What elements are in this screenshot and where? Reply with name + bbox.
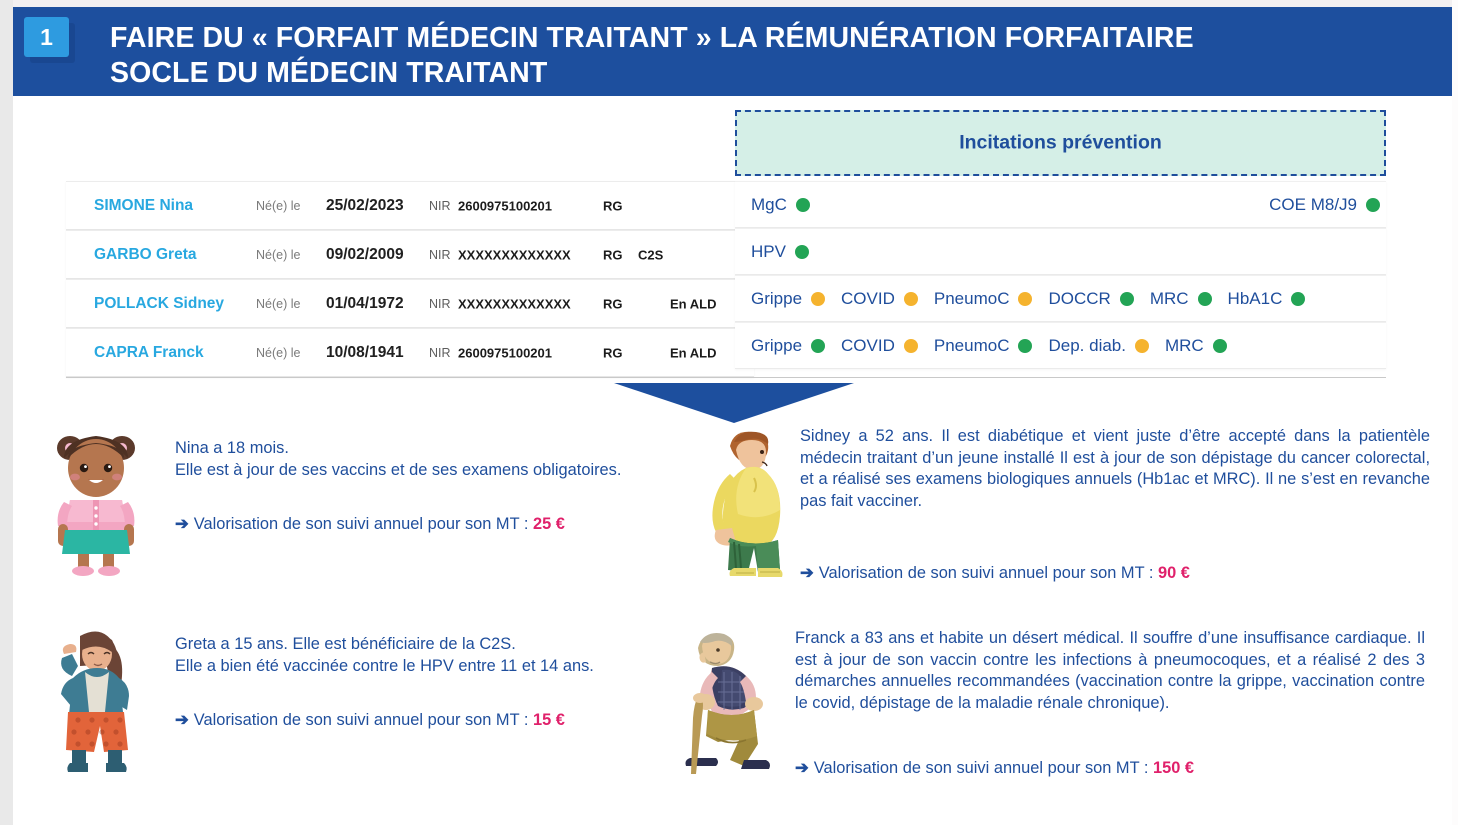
- case-amount: 150 €: [1153, 759, 1194, 777]
- arrow-right-icon: ➔: [175, 711, 189, 729]
- prevention-chip-label: MgC: [751, 195, 787, 215]
- prevention-panel-title: Incitations prévention: [737, 132, 1384, 155]
- prevention-chip[interactable]: COE M8/J9: [1269, 195, 1380, 215]
- nir-label: NIR: [429, 346, 451, 360]
- case-value-franck: ➔Valorisation de son suivi annuel pour s…: [795, 758, 1194, 779]
- regime-badge: RG: [603, 198, 623, 213]
- case-description-franck: Franck a 83 ans et habite un désert médi…: [795, 628, 1425, 714]
- prevention-chip-label: Dep. diab.: [1048, 336, 1126, 356]
- status-badge: C2S: [638, 247, 663, 262]
- status-dot-green: [1198, 292, 1212, 306]
- prevention-chip-label: PneumoC: [934, 336, 1010, 356]
- page-title: FAIRE DU « FORFAIT MÉDECIN TRAITANT » LA…: [110, 21, 1400, 91]
- prevention-chip[interactable]: HPV: [751, 242, 809, 262]
- birth-date-value: 09/02/2009: [326, 246, 404, 264]
- birth-date-label: Né(e) le: [256, 346, 300, 360]
- patient-name: CAPRA Franck: [94, 344, 204, 362]
- prevention-chip[interactable]: PneumoC: [934, 336, 1033, 356]
- slide-number-badge: 1: [24, 17, 69, 57]
- prevention-chip[interactable]: Dep. diab.: [1048, 336, 1149, 356]
- prevention-chip-label: PneumoC: [934, 289, 1010, 309]
- patient-table: SIMONE NinaNé(e) le25/02/2023NIR26009751…: [66, 181, 754, 377]
- prevention-chip[interactable]: COVID: [841, 289, 918, 309]
- case-description-greta: Greta a 15 ans. Elle est bénéficiaire de…: [175, 634, 695, 677]
- birth-date-label: Né(e) le: [256, 248, 300, 262]
- prevention-chip[interactable]: Grippe: [751, 336, 825, 356]
- case-amount: 90 €: [1158, 564, 1190, 582]
- prevention-chip[interactable]: MgC: [751, 195, 810, 215]
- prevention-chip[interactable]: Grippe: [751, 289, 825, 309]
- prevention-row: MgCCOE M8/J9: [735, 181, 1386, 228]
- case-description-sidney: Sidney a 52 ans. Il est diabétique et vi…: [800, 426, 1430, 512]
- case-value-greta: ➔Valorisation de son suivi annuel pour s…: [175, 710, 565, 731]
- nir-value: XXXXXXXXXXXXX: [458, 247, 571, 262]
- nir-value: 2600975100201: [458, 345, 552, 360]
- prevention-chip-label: COVID: [841, 289, 895, 309]
- patient-name: SIMONE Nina: [94, 197, 193, 215]
- prevention-chip-label: Grippe: [751, 289, 802, 309]
- case-value-prefix: Valorisation de son suivi annuel pour so…: [194, 711, 533, 729]
- status-dot-green: [1018, 339, 1032, 353]
- case-value-prefix: Valorisation de son suivi annuel pour so…: [194, 515, 533, 533]
- slide-canvas: 1 FAIRE DU « FORFAIT MÉDECIN TRAITANT » …: [0, 0, 1458, 825]
- birth-date-value: 01/04/1972: [326, 295, 404, 313]
- prevention-chip[interactable]: HbA1C: [1228, 289, 1306, 309]
- regime-badge: RG: [603, 345, 623, 360]
- status-dot-green: [795, 245, 809, 259]
- patient-name: GARBO Greta: [94, 246, 197, 264]
- nir-label: NIR: [429, 297, 451, 311]
- nir-label: NIR: [429, 248, 451, 262]
- slide-left-edge: [0, 0, 13, 825]
- prevention-chip-label: HPV: [751, 242, 786, 262]
- arrow-right-icon: ➔: [795, 759, 809, 777]
- prevention-row: GrippeCOVIDPneumoCDOCCRMRCHbA1C: [735, 275, 1386, 322]
- slide-top-edge: [0, 0, 1458, 7]
- status-dot-amber: [904, 292, 918, 306]
- prevention-chip-label: DOCCR: [1048, 289, 1110, 309]
- prevention-chip-label: Grippe: [751, 336, 802, 356]
- overweight-man-illustration: [690, 418, 802, 588]
- status-dot-green: [811, 339, 825, 353]
- birth-date-label: Né(e) le: [256, 199, 300, 213]
- girl-toddler-illustration: [40, 424, 152, 576]
- status-badge: En ALD: [670, 296, 716, 311]
- status-dot-green: [796, 198, 810, 212]
- case-value-nina: ➔Valorisation de son suivi annuel pour s…: [175, 514, 565, 535]
- arrow-right-icon: ➔: [175, 515, 189, 533]
- case-value-prefix: Valorisation de son suivi annuel pour so…: [819, 564, 1158, 582]
- regime-badge: RG: [603, 296, 623, 311]
- arrow-right-icon: ➔: [800, 564, 814, 582]
- case-amount: 25 €: [533, 515, 565, 533]
- status-dot-amber: [811, 292, 825, 306]
- prevention-chip-label: COVID: [841, 336, 895, 356]
- prevention-chip[interactable]: MRC: [1150, 289, 1212, 309]
- down-arrow-icon: [614, 381, 854, 423]
- teen-girl-illustration: [40, 620, 152, 778]
- prevention-chip[interactable]: COVID: [841, 336, 918, 356]
- status-dot-amber: [1135, 339, 1149, 353]
- nir-value: XXXXXXXXXXXXX: [458, 296, 571, 311]
- case-value-prefix: Valorisation de son suivi annuel pour so…: [814, 759, 1153, 777]
- prevention-chip[interactable]: MRC: [1165, 336, 1227, 356]
- status-dot-amber: [904, 339, 918, 353]
- case-description-nina: Nina a 18 mois. Elle est à jour de ses v…: [175, 438, 695, 481]
- prevention-panel-header: Incitations prévention: [735, 110, 1386, 176]
- slide-number-label: 1: [24, 17, 69, 57]
- elderly-man-with-cane-illustration: [660, 618, 790, 788]
- table-row[interactable]: GARBO GretaNé(e) le09/02/2009NIRXXXXXXXX…: [66, 230, 754, 279]
- case-value-sidney: ➔Valorisation de son suivi annuel pour s…: [800, 563, 1190, 584]
- table-row[interactable]: POLLACK SidneyNé(e) le01/04/1972NIRXXXXX…: [66, 279, 754, 328]
- slide-header: 1 FAIRE DU « FORFAIT MÉDECIN TRAITANT » …: [13, 7, 1452, 96]
- section-divider: [66, 377, 1386, 378]
- prevention-row: GrippeCOVIDPneumoCDep. diab.MRC: [735, 322, 1386, 369]
- status-dot-amber: [1018, 292, 1032, 306]
- status-dot-green: [1366, 198, 1380, 212]
- birth-date-value: 25/02/2023: [326, 197, 404, 215]
- prevention-chip[interactable]: PneumoC: [934, 289, 1033, 309]
- status-dot-green: [1291, 292, 1305, 306]
- nir-value: 2600975100201: [458, 198, 552, 213]
- prevention-rows: MgCCOE M8/J9HPVGrippeCOVIDPneumoCDOCCRMR…: [735, 181, 1386, 369]
- birth-date-value: 10/08/1941: [326, 344, 404, 362]
- status-dot-green: [1120, 292, 1134, 306]
- case-amount: 15 €: [533, 711, 565, 729]
- prevention-chip-label: MRC: [1150, 289, 1189, 309]
- regime-badge: RG: [603, 247, 623, 262]
- prevention-chip-label: MRC: [1165, 336, 1204, 356]
- table-row[interactable]: SIMONE NinaNé(e) le25/02/2023NIR26009751…: [66, 181, 754, 230]
- table-row[interactable]: CAPRA FranckNé(e) le10/08/1941NIR2600975…: [66, 328, 754, 377]
- prevention-chip-label: HbA1C: [1228, 289, 1283, 309]
- prevention-chip-label: COE M8/J9: [1269, 195, 1357, 215]
- prevention-row: HPV: [735, 228, 1386, 275]
- nir-label: NIR: [429, 199, 451, 213]
- status-dot-green: [1213, 339, 1227, 353]
- slide-right-edge: [1452, 0, 1458, 825]
- status-badge: En ALD: [670, 345, 716, 360]
- prevention-chip[interactable]: DOCCR: [1048, 289, 1133, 309]
- patient-name: POLLACK Sidney: [94, 295, 224, 313]
- birth-date-label: Né(e) le: [256, 297, 300, 311]
